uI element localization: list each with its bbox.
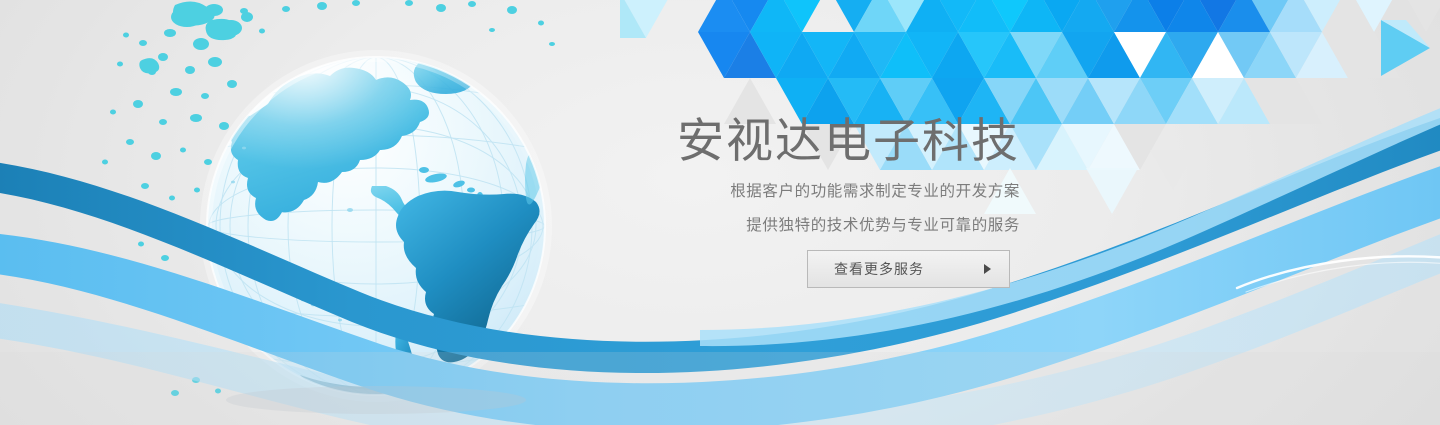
- hero-copy: 安视达电子科技 根据客户的功能需求制定专业的开发方案 提供独特的技术优势与专业可…: [600, 112, 1020, 238]
- subtitle-line-1: 根据客户的功能需求制定专业的开发方案: [600, 180, 1020, 204]
- page-title: 安视达电子科技: [600, 112, 1020, 170]
- cta-button-wrapper: 查看更多服务: [807, 250, 1010, 288]
- cta-label: 查看更多服务: [828, 259, 924, 279]
- view-more-services-button[interactable]: 查看更多服务: [807, 250, 1010, 288]
- triangle-right-icon: [984, 264, 991, 274]
- subtitle-line-2: 提供独特的技术优势与专业可靠的服务: [600, 214, 1020, 238]
- hero-banner: 安视达电子科技 根据客户的功能需求制定专业的开发方案 提供独特的技术优势与专业可…: [0, 0, 1440, 425]
